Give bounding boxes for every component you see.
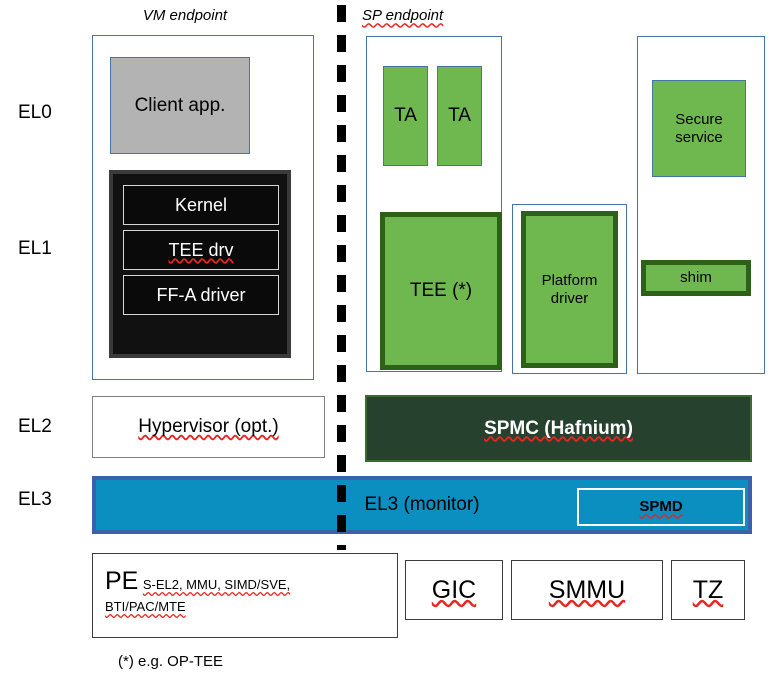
trusted-app-box-2[interactable]: TA [437,66,482,166]
architecture-diagram: VM endpoint SP endpoint EL0 EL1 EL2 EL3 … [0,0,784,686]
pe-box-text: PE S-EL2, MMU, SIMD/SVE, BTI/PAC/MTE [105,566,389,617]
gic-label: GIC [432,576,476,605]
exception-level-label-el1: EL1 [18,236,80,262]
spmd-label: SPMD [639,498,682,515]
platform-driver-label-line2: driver [551,290,589,307]
tz-label: TZ [693,576,724,605]
tz-box[interactable]: TZ [671,560,745,620]
gic-box[interactable]: GIC [405,560,503,620]
spmd-box[interactable]: SPMD [577,488,745,526]
hypervisor-label-spellchecked: Hypervisor (opt.) [138,416,278,438]
tee-driver-label: TEE drv [168,240,233,261]
kernel-stack-container: Kernel TEE drv FF-A driver [109,170,291,358]
platform-driver-label-line1: Platform [542,272,598,289]
spmc-box[interactable]: SPMC (Hafnium) [365,395,752,462]
secure-service-label-line1: Secure [675,111,723,128]
pe-detail-line2: BTI/PAC/MTE [105,599,186,614]
sp-endpoint-title: SP endpoint [362,5,482,27]
client-app-box[interactable]: Client app. [110,57,250,154]
tee-driver-box[interactable]: TEE drv [123,230,279,270]
exception-level-label-el2: EL2 [18,414,80,440]
hypervisor-box[interactable]: Hypervisor (opt.) [92,396,325,458]
tee-box[interactable]: TEE (*) [380,212,502,370]
pe-box[interactable]: PE S-EL2, MMU, SIMD/SVE, BTI/PAC/MTE [92,553,398,638]
trusted-app-box-1[interactable]: TA [383,66,428,166]
shim-box[interactable]: shim [641,260,751,296]
smmu-box[interactable]: SMMU [511,560,663,620]
footnote-text: (*) e.g. OP-TEE [118,653,418,675]
kernel-box[interactable]: Kernel [123,185,279,225]
spmc-label: SPMC (Hafnium) [484,418,633,440]
exception-level-label-el3: EL3 [18,487,80,513]
secure-service-box[interactable]: Secure service [652,80,746,177]
secure-service-label-line2: service [675,129,723,146]
security-boundary-divider [337,5,346,550]
ffa-driver-box[interactable]: FF-A driver [123,275,279,315]
el3-monitor-bar[interactable]: EL3 (monitor) SPMD [92,476,752,534]
platform-driver-box[interactable]: Platform driver [521,211,618,368]
vm-endpoint-title: VM endpoint [115,5,255,27]
smmu-label: SMMU [549,576,625,605]
exception-level-label-el0: EL0 [18,100,80,126]
pe-detail-line1: S-EL2, MMU, SIMD/SVE, [143,577,290,592]
pe-title: PE [105,567,138,595]
